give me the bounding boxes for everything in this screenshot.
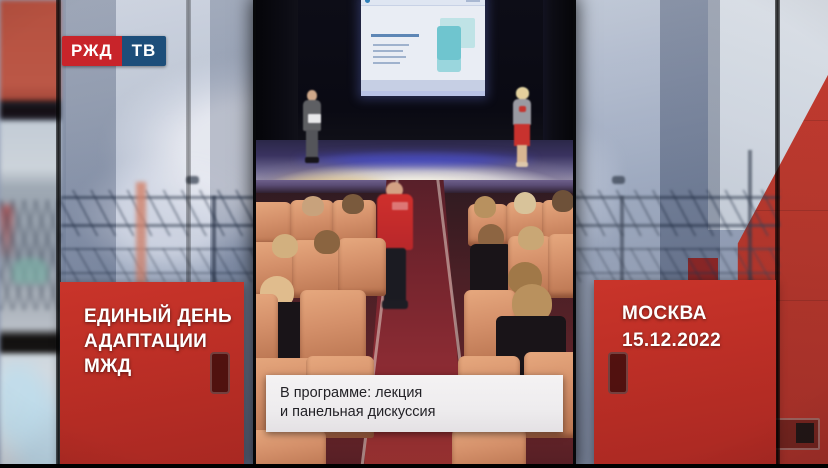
background-left-strip [0,0,60,468]
attendee-head [272,234,298,258]
caption-line-1: В программе: лекция [280,384,563,403]
attendee-head [474,196,496,218]
location-label: МОСКВА [622,303,707,325]
caption-line-2: и панельная дискуссия [280,403,563,422]
attendee-head [342,194,364,214]
presenter-left [301,90,323,163]
attendee-head [514,192,536,214]
broadcast-frame: РЖД ТВ ЕДИНЫЙ ДЕНЬ АДАПТАЦИИ МЖД МОСКВА … [0,0,828,468]
channel-logo: РЖД ТВ [62,36,166,66]
presenter-right [510,88,534,166]
attendee-head [518,226,544,250]
logo-tv-text: ТВ [122,36,167,66]
projection-screen [361,0,485,96]
attendee-head [552,190,573,212]
caption-box: В программе: лекция и панельная дискусси… [266,375,563,432]
attendee-head [314,230,340,254]
logo-rzd-text: РЖД [62,36,122,66]
seat [300,290,366,366]
stage-blue-light [296,152,536,168]
lower-third-right: МОСКВА 15.12.2022 [594,280,776,468]
attendee-head [302,196,324,216]
date-label: 15.12.2022 [622,330,721,352]
seat [256,430,326,468]
lower-third-left: ЕДИНЫЙ ДЕНЬ АДАПТАЦИИ МЖД [60,282,244,468]
seat [256,294,278,366]
stage-area [256,0,573,200]
wagon-handle-icon [608,352,628,394]
seat [338,238,386,296]
seat [452,428,526,468]
attendee-body [470,244,512,292]
bottom-letterbox-bar [0,464,828,468]
wagon-handle-icon [210,352,230,394]
seat [548,234,573,298]
